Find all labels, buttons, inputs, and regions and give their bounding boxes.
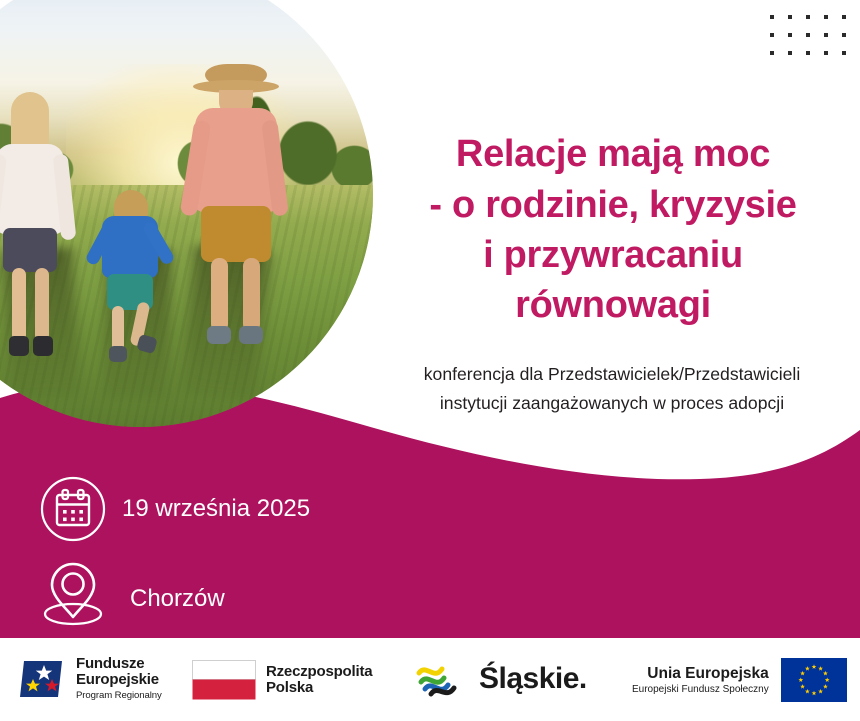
logo-rp-text: Rzeczpospolita Polska (266, 664, 372, 696)
event-location-text: Chorzów (130, 585, 225, 613)
logo-ue-subtitle: Europejski Fundusz Społeczny (632, 684, 769, 695)
logo-fundusze-europejskie: Fundusze Europejskie Program Regionalny (18, 656, 162, 702)
logo-rp-title-2: Polska (266, 680, 372, 696)
event-location-row: Chorzów (38, 556, 225, 626)
logo-ue-text: Unia Europejska Europejski Fundusz Społe… (632, 665, 769, 695)
dot (824, 33, 828, 37)
dot (770, 15, 774, 19)
title-line-3: i przywracaniu (378, 230, 848, 280)
dot (788, 15, 792, 19)
photo-scene (0, 0, 373, 427)
subtitle-line-2: instytucji zaangażowanych w proces adopc… (372, 389, 852, 418)
dot (770, 33, 774, 37)
event-date-text: 19 września 2025 (122, 495, 310, 523)
family-photo (0, 0, 373, 427)
logo-fe-text: Fundusze Europejskie Program Regionalny (76, 656, 162, 702)
poster-subtitle: konferencja dla Przedstawicielek/Przedst… (372, 360, 852, 417)
dot (788, 33, 792, 37)
calendar-icon (38, 474, 108, 544)
dot (842, 15, 846, 19)
title-line-2: - o rodzinie, kryzysie (378, 180, 848, 230)
logo-rp-title-1: Rzeczpospolita (266, 664, 372, 680)
polish-flag-icon (192, 660, 256, 700)
funding-logo-strip: Fundusze Europejskie Program Regionalny … (0, 638, 860, 721)
adult-man-figure (187, 64, 283, 371)
adult-woman-figure (0, 92, 73, 371)
dot (770, 51, 774, 55)
logo-fe-title-2: Europejskie (76, 672, 162, 688)
dot (806, 33, 810, 37)
child-boy-figure (94, 190, 166, 390)
title-line-4: równowagi (378, 280, 848, 330)
logo-rzeczpospolita-polska: Rzeczpospolita Polska (192, 660, 372, 700)
dot (842, 33, 846, 37)
logo-fe-subtitle: Program Regionalny (76, 690, 162, 702)
dot (806, 15, 810, 19)
dot (824, 51, 828, 55)
dot (788, 51, 792, 55)
dot-grid-decoration (756, 8, 846, 62)
dot (842, 51, 846, 55)
logo-ue-title: Unia Europejska (632, 665, 769, 682)
slaskie-waves-icon (415, 658, 467, 700)
logo-fe-title-1: Fundusze (76, 656, 162, 672)
title-line-1: Relacje mają moc (378, 129, 848, 179)
fundusze-europejskie-icon (18, 657, 66, 701)
logo-slaskie: Śląskie. (415, 658, 587, 700)
logo-unia-europejska: Unia Europejska Europejski Fundusz Społe… (632, 658, 847, 702)
conference-poster: Relacje mają moc - o rodzinie, kryzysie … (0, 0, 860, 721)
logo-slaskie-wordmark: Śląskie. (479, 664, 587, 694)
location-pin-icon (38, 556, 108, 626)
poster-title: Relacje mają moc - o rodzinie, kryzysie … (378, 129, 848, 330)
event-date-row: 19 września 2025 (38, 474, 310, 544)
eu-flag-icon (781, 658, 847, 702)
dot (824, 15, 828, 19)
dot (806, 51, 810, 55)
subtitle-line-1: konferencja dla Przedstawicielek/Przedst… (372, 360, 852, 389)
